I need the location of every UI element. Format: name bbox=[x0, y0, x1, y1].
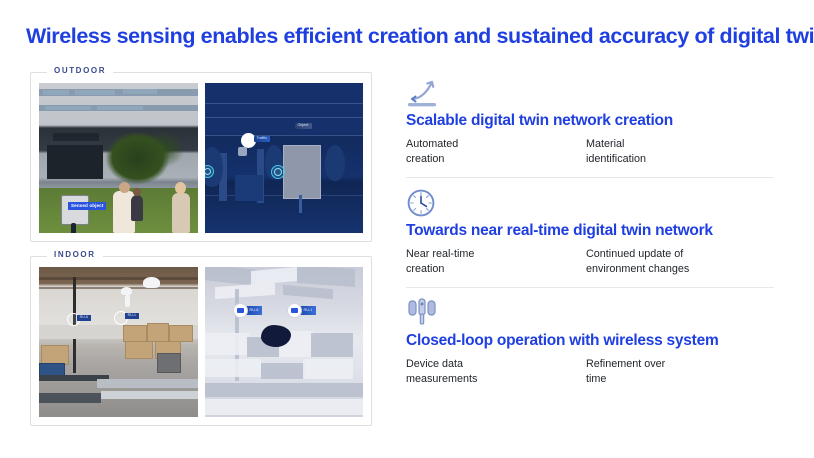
page-title: Wireless sensing enables efficient creat… bbox=[26, 24, 814, 49]
feature-closed-loop: Closed-loop operation with wireless syst… bbox=[406, 298, 774, 397]
outdoor-camera-photo: Sensed object bbox=[39, 83, 198, 233]
radio-unit-icon bbox=[406, 298, 774, 328]
indoor-twin-marker-ru-6: RU-6 bbox=[233, 303, 263, 318]
feature-point: Refinement overtime bbox=[586, 357, 665, 386]
feature-points: Near real-timecreation Continued update … bbox=[406, 247, 774, 276]
media-column: OUTDOOR bbox=[30, 72, 372, 440]
feature-points: Device datameasurements Refinement overt… bbox=[406, 357, 774, 386]
indoor-digital-twin-render: RU-6 RU-1 bbox=[205, 267, 364, 417]
feature-title: Closed-loop operation with wireless syst… bbox=[406, 332, 774, 350]
indoor-camera-photo: RU-6 RU-1 bbox=[39, 267, 198, 417]
feature-points: Automatedcreation Materialidentification bbox=[406, 137, 774, 166]
growth-curve-icon bbox=[406, 78, 774, 108]
indoor-panes: RU-6 RU-1 bbox=[39, 267, 363, 417]
annotation-indoor-photo-ru-6: RU-6 bbox=[77, 315, 91, 321]
feature-title: Towards near real-time digital twin netw… bbox=[406, 222, 774, 240]
radio-unit-icon bbox=[233, 303, 248, 318]
card-badge-indoor: INDOOR bbox=[47, 250, 103, 259]
media-card-indoor: INDOOR bbox=[30, 256, 372, 426]
outdoor-digital-twin-render: Traffic Object bbox=[205, 83, 364, 233]
feature-point: Automatedcreation bbox=[406, 137, 586, 166]
feature-point: Materialidentification bbox=[586, 137, 646, 166]
annotation-twin-object: Object bbox=[295, 123, 312, 129]
feature-point: Device datameasurements bbox=[406, 357, 586, 386]
outdoor-photo-scene: Sensed object bbox=[39, 83, 198, 233]
indoor-twin-marker-ru-1: RU-1 bbox=[287, 303, 317, 318]
radio-unit-icon bbox=[287, 303, 302, 318]
indoor-twin-scene: RU-6 RU-1 bbox=[205, 267, 364, 417]
card-badge-outdoor: OUTDOOR bbox=[47, 66, 113, 75]
outdoor-panes: Sensed object bbox=[39, 83, 363, 233]
feature-near-real-time: Towards near real-time digital twin netw… bbox=[406, 188, 774, 288]
annotation-twin-traffic: Traffic bbox=[254, 136, 270, 142]
media-card-outdoor: OUTDOOR bbox=[30, 72, 372, 242]
annotation-indoor-photo-ru-1: RU-1 bbox=[125, 313, 139, 319]
feature-title: Scalable digital twin network creation bbox=[406, 112, 774, 130]
clock-icon bbox=[406, 188, 774, 218]
feature-point: Continued update ofenvironment changes bbox=[586, 247, 689, 276]
indoor-photo-scene: RU-6 RU-1 bbox=[39, 267, 198, 417]
annotation-sensed-object: Sensed object bbox=[68, 202, 106, 210]
feature-point: Near real-timecreation bbox=[406, 247, 586, 276]
feature-column: Scalable digital twin network creation A… bbox=[406, 78, 774, 407]
feature-scalable-creation: Scalable digital twin network creation A… bbox=[406, 78, 774, 178]
outdoor-twin-scene: Traffic Object bbox=[205, 83, 364, 233]
